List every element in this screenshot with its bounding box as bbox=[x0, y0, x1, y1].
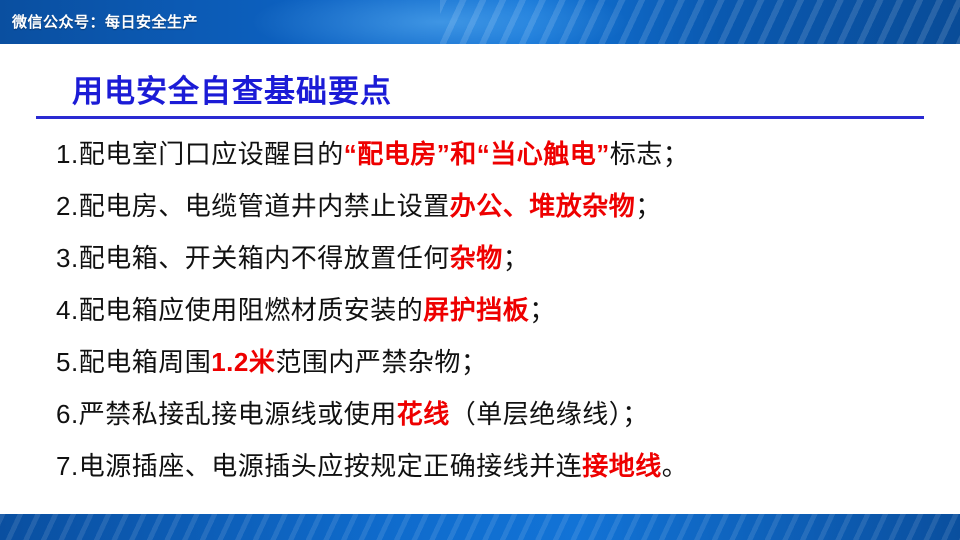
list-item-text: （单层绝缘线）； bbox=[450, 399, 649, 429]
list-item-text: ； bbox=[529, 295, 556, 325]
list-item-text: 范围内严禁杂物； bbox=[275, 347, 487, 377]
wechat-account-label: 微信公众号：每日安全生产 bbox=[12, 11, 198, 32]
list-item-number: 3. bbox=[56, 243, 79, 273]
list-item: 6.严禁私接乱接电源线或使用花线（单层绝缘线）； bbox=[56, 388, 936, 440]
list-item-highlight: “配电房”和“当心触电” bbox=[344, 139, 610, 169]
list-item: 1.配电室门口应设醒目的“配电房”和“当心触电”标志； bbox=[56, 128, 936, 180]
list-item-number: 6. bbox=[56, 399, 79, 429]
list-item-text: 电源插座、电源插头应按规定正确接线并连 bbox=[79, 451, 583, 481]
banner-stripes bbox=[440, 0, 960, 44]
list-item-highlight: 接地线 bbox=[582, 451, 662, 481]
list-item-number: 4. bbox=[56, 295, 79, 325]
top-banner: 微信公众号：每日安全生产 bbox=[0, 0, 960, 44]
list-item-text: 配电箱周围 bbox=[79, 347, 212, 377]
checklist: 1.配电室门口应设醒目的“配电房”和“当心触电”标志；2.配电房、电缆管道井内禁… bbox=[56, 128, 936, 492]
list-item-highlight: 花线 bbox=[397, 399, 450, 429]
bottom-banner-stripes bbox=[0, 514, 960, 540]
list-item-text: 严禁私接乱接电源线或使用 bbox=[79, 399, 397, 429]
list-item-text: 配电室门口应设醒目的 bbox=[79, 139, 344, 169]
list-item-number: 2. bbox=[56, 191, 79, 221]
list-item-number: 7. bbox=[56, 451, 79, 481]
list-item-text: ； bbox=[503, 243, 530, 273]
list-item: 2.配电房、电缆管道井内禁止设置办公、堆放杂物； bbox=[56, 180, 936, 232]
list-item: 7.电源插座、电源插头应按规定正确接线并连接地线。 bbox=[56, 440, 936, 492]
title-underline bbox=[36, 116, 924, 119]
list-item-text: 标志； bbox=[610, 139, 690, 169]
list-item-text: 配电箱应使用阻燃材质安装的 bbox=[79, 295, 424, 325]
list-item-text: 配电箱、开关箱内不得放置任何 bbox=[79, 243, 450, 273]
list-item-highlight: 办公、堆放杂物 bbox=[450, 191, 636, 221]
list-item-text: 配电房、电缆管道井内禁止设置 bbox=[79, 191, 450, 221]
list-item-highlight: 屏护挡板 bbox=[423, 295, 529, 325]
bottom-banner bbox=[0, 514, 960, 540]
list-item: 5.配电箱周围1.2米范围内严禁杂物； bbox=[56, 336, 936, 388]
list-item-text: ； bbox=[635, 191, 662, 221]
list-item: 3.配电箱、开关箱内不得放置任何杂物； bbox=[56, 232, 936, 284]
list-item-number: 5. bbox=[56, 347, 79, 377]
list-item-highlight: 杂物 bbox=[450, 243, 503, 273]
list-item: 4.配电箱应使用阻燃材质安装的屏护挡板； bbox=[56, 284, 936, 336]
page-title: 用电安全自查基础要点 bbox=[72, 66, 392, 111]
list-item-text: 。 bbox=[662, 451, 689, 481]
list-item-highlight: 1.2米 bbox=[211, 347, 275, 377]
slide: 微信公众号：每日安全生产 用电安全自查基础要点 1.配电室门口应设醒目的“配电房… bbox=[0, 0, 960, 540]
list-item-number: 1. bbox=[56, 139, 79, 169]
